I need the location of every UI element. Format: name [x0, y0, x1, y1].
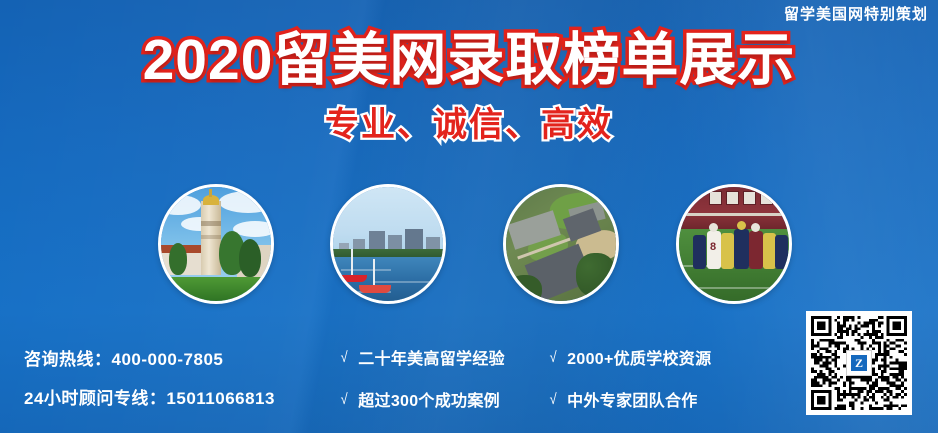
contact-hotline: 咨询热线：400-000-7805: [24, 345, 275, 370]
feature-label: 中外专家团队合作: [567, 387, 697, 411]
promo-banner: 留学美国网特别策划 2020留美网录取榜单展示 专业、诚信、高效: [0, 0, 938, 433]
qr-code[interactable]: Z: [811, 316, 907, 410]
feature-list: √ 二十年美高留学经验 √ 超过300个成功案例 √ 2000+优质学校资源 √…: [340, 345, 711, 411]
photo-aerial-campus: [503, 184, 619, 304]
kicker-text: 留学美国网特别策划: [784, 3, 928, 24]
check-icon: √: [550, 391, 557, 408]
feature-item: √ 超过300个成功案例: [340, 387, 505, 411]
qr-logo: Z: [846, 350, 872, 376]
contact-advisor-line: 24小时顾问专线：15011066813: [24, 384, 275, 409]
photo-strip: 8: [158, 184, 808, 306]
feature-label: 超过300个成功案例: [358, 387, 500, 411]
feature-column-2: √ 2000+优质学校资源 √ 中外专家团队合作: [549, 345, 711, 411]
photo-football-game: 8: [676, 184, 792, 304]
photo-waterfront-skyline: [330, 184, 446, 304]
feature-item: √ 二十年美高留学经验: [340, 345, 505, 369]
feature-item: √ 中外专家团队合作: [549, 387, 711, 411]
check-icon: √: [341, 391, 348, 408]
feature-item: √ 2000+优质学校资源: [549, 345, 711, 369]
check-icon: √: [341, 349, 348, 366]
page-subtitle: 专业、诚信、高效: [0, 108, 938, 142]
feature-column-1: √ 二十年美高留学经验 √ 超过300个成功案例: [340, 345, 505, 411]
feature-label: 2000+优质学校资源: [567, 345, 711, 369]
qr-code-panel[interactable]: Z: [806, 311, 912, 415]
photo-campus-bell-tower: [158, 184, 274, 304]
qr-logo-letter: Z: [851, 355, 867, 371]
contact-block: 咨询热线：400-000-7805 24小时顾问专线：15011066813: [24, 345, 275, 409]
check-icon: √: [550, 349, 557, 366]
page-title: 2020留美网录取榜单展示: [0, 32, 938, 89]
feature-label: 二十年美高留学经验: [358, 345, 505, 369]
